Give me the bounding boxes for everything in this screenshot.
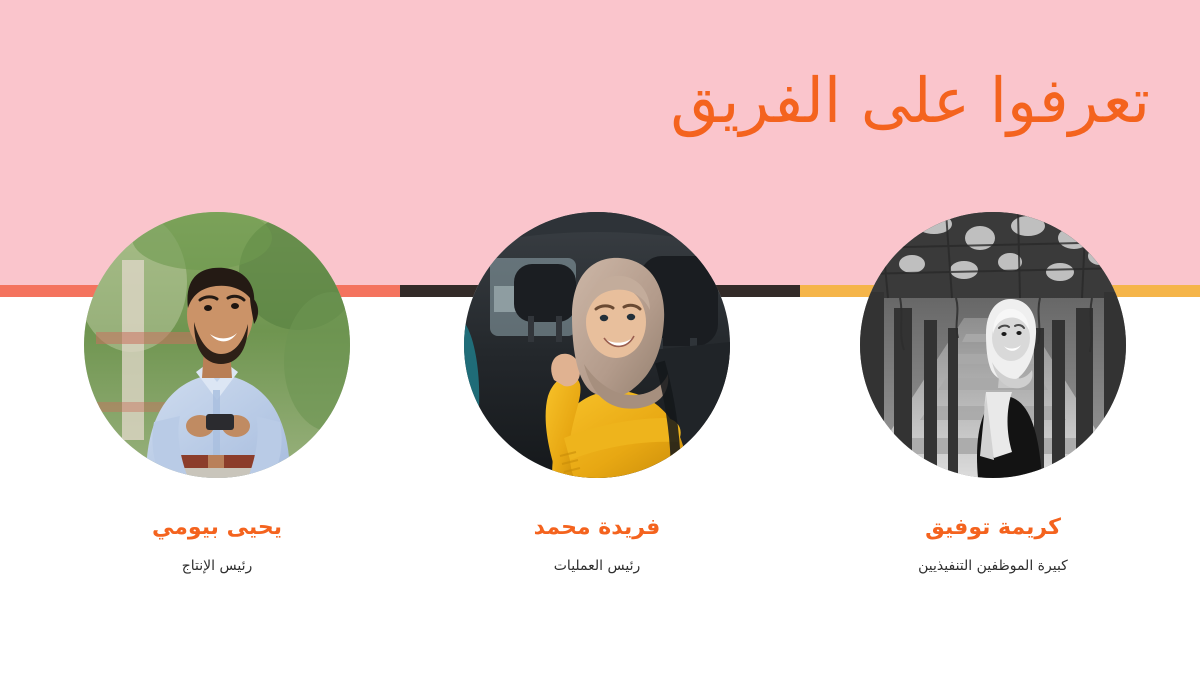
member-role: رئيس الإنتاج: [52, 557, 382, 575]
member-role: رئيس العمليات: [432, 557, 762, 575]
team-members-row: يحيى بيومي رئيس الإنتاج: [0, 0, 1200, 675]
member-photo-karima: [860, 212, 1126, 478]
team-slide: تعرفوا على الفريق: [0, 0, 1200, 675]
member-name: يحيى بيومي: [52, 514, 382, 543]
member-name: كريمة توفيق: [828, 514, 1158, 543]
team-member-card: يحيى بيومي رئيس الإنتاج: [52, 212, 382, 575]
team-member-card: فريدة محمد رئيس العمليات: [432, 212, 762, 575]
member-photo-farida: [464, 212, 730, 478]
team-member-card: كريمة توفيق كبيرة الموظفين التنفيذيين: [828, 212, 1158, 575]
member-name: فريدة محمد: [432, 514, 762, 543]
member-role: كبيرة الموظفين التنفيذيين: [828, 557, 1158, 575]
member-photo-yahya: [84, 212, 350, 478]
